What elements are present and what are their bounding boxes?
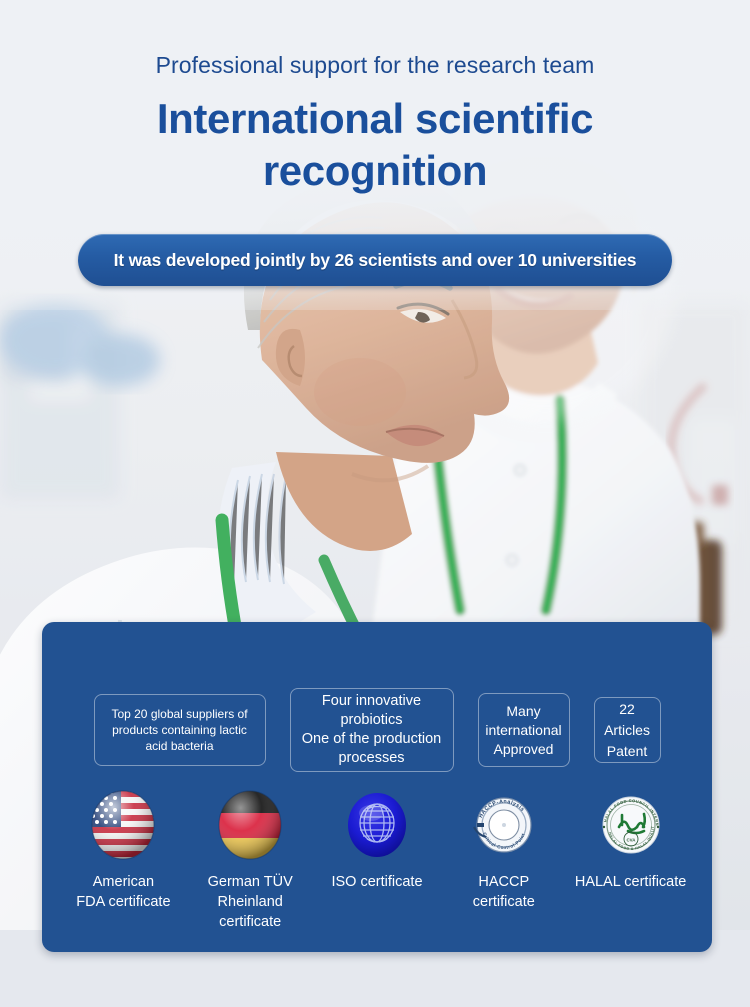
certificate-label-fda: American FDA certificate <box>76 872 170 912</box>
certificate-item-tuv[interactable]: German TÜV Rheinland certificate <box>187 787 314 932</box>
certificate-label-iso: ISO certificate <box>331 872 422 892</box>
feature-box-top-suppliers: Top 20 global suppliers of products cont… <box>94 694 266 766</box>
certification-panel: Top 20 global suppliers of products cont… <box>42 622 712 952</box>
certificate-item-fda[interactable]: American FDA certificate <box>60 787 187 912</box>
feature-box-articles-patent: 22 Articles Patent <box>594 697 661 763</box>
page-title: International scientific recognition <box>0 93 750 197</box>
feature-box-innovative-probiotics: Four innovative probiotics One of the pr… <box>290 688 454 772</box>
certificate-row: American FDA certificate <box>60 787 694 932</box>
feature-box-row: Top 20 global suppliers of products cont… <box>42 688 712 772</box>
svg-text:CVA: CVA <box>626 838 636 843</box>
halal-seal-icon: HALAL FOOD COUNCIL INTERNATIONAL HALAL F… <box>595 787 667 863</box>
certificate-item-halal[interactable]: HALAL FOOD COUNCIL INTERNATIONAL HALAL F… <box>567 787 694 892</box>
germany-flag-globe-icon <box>214 787 286 863</box>
feature-box-international-approved: Many international Approved <box>478 693 570 767</box>
haccp-seal-icon: HACCP-Analysis Critical-Control-Point <box>468 787 540 863</box>
development-banner: It was developed jointly by 26 scientist… <box>78 234 672 286</box>
iso-globe-graphic <box>341 787 413 863</box>
certificate-item-haccp[interactable]: HACCP-Analysis Critical-Control-Point HA… <box>440 787 567 912</box>
certificate-label-haccp: HACCP certificate <box>473 872 535 912</box>
certificate-label-tuv: German TÜV Rheinland certificate <box>187 872 314 932</box>
usa-flag-globe-graphic <box>87 787 159 863</box>
halal-seal-graphic: HALAL FOOD COUNCIL INTERNATIONAL HALAL F… <box>595 787 667 863</box>
page-header: Professional support for the research te… <box>0 0 750 197</box>
certificate-label-halal: HALAL certificate <box>575 872 686 892</box>
haccp-seal-graphic: HACCP-Analysis Critical-Control-Point <box>468 787 540 863</box>
certificate-item-iso[interactable]: ISO certificate <box>314 787 441 892</box>
usa-flag-globe-icon <box>87 787 159 863</box>
development-banner-text: It was developed jointly by 26 scientist… <box>114 250 637 271</box>
certification-page: Professional support for the research te… <box>0 0 750 1007</box>
iso-globe-icon <box>341 787 413 863</box>
germany-flag-globe-graphic <box>214 787 286 863</box>
page-subtitle: Professional support for the research te… <box>0 52 750 79</box>
